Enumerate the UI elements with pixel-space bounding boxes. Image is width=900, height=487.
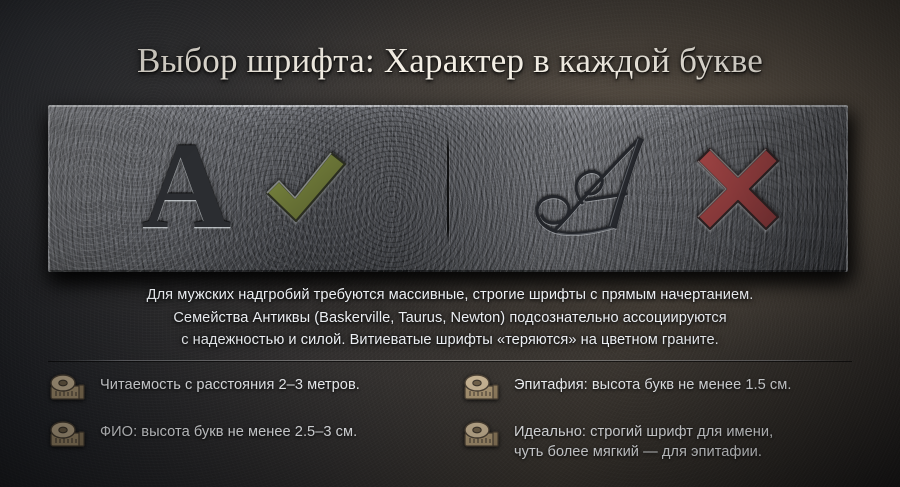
script-letter-glyph — [512, 128, 664, 246]
infographic-slide: Выбор шрифта: Характер в каждой букве A — [0, 0, 900, 487]
list-item: ФИО: высота букв не менее 2.5–3 см. — [48, 419, 462, 462]
list-item: Эпитафия: высота букв не менее 1.5 см. — [462, 372, 852, 403]
list-item-text: Эпитафия: высота букв не менее 1.5 см. — [514, 372, 791, 395]
plaque-surface: A — [48, 105, 848, 272]
body-line: с надежностью и силой. Витиеватые шрифты… — [50, 329, 850, 352]
example-bad — [449, 105, 848, 272]
body-line: Семейства Антиквы (Baskerville, Taurus, … — [50, 307, 850, 330]
fact-list: Читаемость с расстояния 2–3 метров. — [48, 372, 852, 462]
tape-measure-icon — [462, 373, 502, 403]
list-item-text: Идеально: строгий шрифт для имени, чуть … — [514, 419, 773, 462]
granite-plaque: A — [48, 105, 848, 272]
fact-line: Читаемость с расстояния 2–3 метров. — [100, 375, 360, 395]
tape-measure-icon — [462, 420, 502, 450]
tape-measure-icon — [48, 420, 88, 450]
list-item-text: Читаемость с расстояния 2–3 метров. — [100, 372, 360, 395]
tape-measure-icon — [48, 373, 88, 403]
fact-line: Эпитафия: высота букв не менее 1.5 см. — [514, 375, 791, 395]
check-icon — [257, 141, 353, 237]
section-divider — [48, 360, 852, 361]
list-item: Читаемость с расстояния 2–3 метров. — [48, 372, 462, 403]
serif-letter-glyph: A — [142, 124, 232, 248]
example-good: A — [48, 105, 447, 272]
body-paragraph: Для мужских надгробий требуются массивны… — [50, 284, 850, 352]
fact-line: чуть более мягкий — для эпитафии. — [514, 442, 773, 462]
fact-line: ФИО: высота букв не менее 2.5–3 см. — [100, 422, 357, 442]
fact-line: Идеально: строгий шрифт для имени, — [514, 422, 773, 442]
cross-icon — [690, 141, 786, 237]
list-item: Идеально: строгий шрифт для имени, чуть … — [462, 419, 852, 462]
page-title: Выбор шрифта: Характер в каждой букве — [0, 39, 900, 83]
body-line: Для мужских надгробий требуются массивны… — [50, 284, 850, 307]
list-item-text: ФИО: высота букв не менее 2.5–3 см. — [100, 419, 357, 442]
